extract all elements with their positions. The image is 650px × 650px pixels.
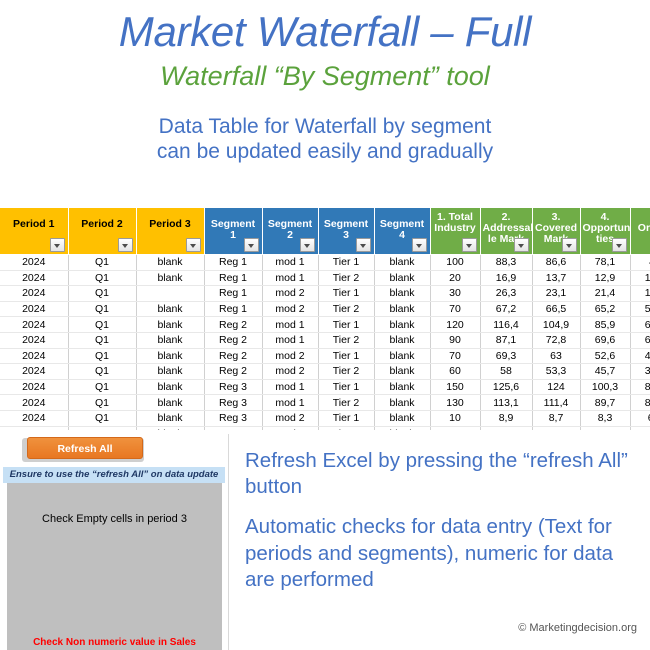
table-cell[interactable]: 88,3: [480, 255, 532, 271]
table-cell[interactable]: Q1: [68, 348, 136, 364]
table-cell[interactable]: blank: [374, 332, 430, 348]
table-cell[interactable]: 100: [430, 255, 480, 271]
column-header-label: Segment 3: [319, 208, 374, 241]
waterfall-data-table: Period 1Period 2Period 3Segment 1Segment…: [0, 208, 650, 430]
table-cell[interactable]: 100,3: [580, 379, 630, 395]
table-cell[interactable]: 2024: [0, 395, 68, 411]
table-cell[interactable]: Reg 1: [204, 301, 262, 317]
table-cell[interactable]: 2024: [0, 364, 68, 380]
table-cell[interactable]: 2024: [0, 301, 68, 317]
page-title: Market Waterfall – Full: [0, 10, 650, 54]
table-cell[interactable]: Q1: [68, 301, 136, 317]
table-cell[interactable]: mod 1: [262, 379, 318, 395]
table-cell[interactable]: 25: [430, 426, 480, 430]
column-header-label: 2. Addressab le Mark: [481, 208, 532, 242]
table-cell[interactable]: Tier 1: [318, 286, 374, 302]
table-row[interactable]: 2024Q1blankReg 3mod 1Tier 2blank130113,1…: [0, 395, 650, 411]
table-body: 2024Q1blankReg 1mod 1Tier 1blank10088,38…: [0, 255, 650, 431]
table-cell[interactable]: 116,4: [480, 317, 532, 333]
column-header-label: Segment 2: [263, 208, 318, 241]
filter-dropdown-icon[interactable]: [514, 238, 529, 252]
table-cell[interactable]: mod 2: [262, 364, 318, 380]
column-header-label: 1. Total Industry: [431, 208, 480, 234]
column-header-segment-3[interactable]: Segment 3: [318, 208, 374, 255]
table-cell[interactable]: blank: [136, 332, 204, 348]
filter-dropdown-icon[interactable]: [356, 238, 371, 252]
table-cell[interactable]: Reg 3: [204, 395, 262, 411]
table-cell[interactable]: 8,7: [532, 410, 580, 426]
table-cell[interactable]: 15,1: [580, 426, 630, 430]
table-cell[interactable]: Q1: [68, 270, 136, 286]
table-cell[interactable]: 89,7: [580, 395, 630, 411]
table-cell[interactable]: 66,5: [532, 301, 580, 317]
column-header-label: Period 2: [69, 208, 136, 230]
table-cell[interactable]: Tier 1: [318, 410, 374, 426]
table-cell[interactable]: Reg 1: [204, 286, 262, 302]
table-cell[interactable]: mod 1: [262, 317, 318, 333]
table-cell[interactable]: 70: [430, 301, 480, 317]
table-cell[interactable]: 26,3: [480, 286, 532, 302]
table-cell[interactable]: blank: [136, 317, 204, 333]
filter-dropdown-icon[interactable]: [462, 238, 477, 252]
table-cell[interactable]: Q1: [68, 364, 136, 380]
table-cell[interactable]: 58: [480, 364, 532, 380]
table-cell[interactable]: Q1: [68, 317, 136, 333]
table-cell[interactable]: 10,5: [630, 270, 650, 286]
table-cell[interactable]: 130: [430, 395, 480, 411]
controls-panel: Refresh All Ensure to use the “refresh A…: [0, 434, 229, 650]
table-cell[interactable]: blank: [136, 379, 204, 395]
table-cell[interactable]: 78,1: [580, 255, 630, 271]
table-cell[interactable]: Reg 1: [204, 270, 262, 286]
table-row[interactable]: 2024Q1blankReg 1mod 2Tier 2blank7067,266…: [0, 301, 650, 317]
table-cell[interactable]: 52,6: [580, 348, 630, 364]
table-cell[interactable]: Reg 2: [204, 332, 262, 348]
column-header-period-2[interactable]: Period 2: [68, 208, 136, 255]
table-cell[interactable]: 2024: [0, 255, 68, 271]
table-cell[interactable]: Tier 2: [318, 301, 374, 317]
table-cell[interactable]: 10: [430, 410, 480, 426]
table-cell[interactable]: blank: [374, 301, 430, 317]
column-header-label: Segment 1: [205, 208, 262, 241]
table-cell[interactable]: Tier 2: [318, 364, 374, 380]
table-cell[interactable]: blank: [136, 364, 204, 380]
table-row[interactable]: 2024Q1blankReg 3mod 2Tier 2blank2520,917…: [0, 426, 650, 430]
table-cell[interactable]: 19,4: [630, 286, 650, 302]
table-cell[interactable]: Tier 2: [318, 426, 374, 430]
table-row[interactable]: 2024Q1Reg 1mod 2Tier 1blank3026,323,121,…: [0, 286, 650, 302]
table-cell[interactable]: Tier 1: [318, 348, 374, 364]
table-cell[interactable]: blank: [374, 270, 430, 286]
table-cell[interactable]: 36,9: [630, 364, 650, 380]
column-header-4-opportuni-ties[interactable]: 4. Opportuni ties: [580, 208, 630, 255]
table-cell[interactable]: Q1: [68, 395, 136, 411]
table-cell[interactable]: blank: [136, 301, 204, 317]
lead-text: Data Table for Waterfall by segment can …: [0, 114, 650, 165]
table-cell[interactable]: blank: [374, 379, 430, 395]
table-cell[interactable]: [136, 286, 204, 302]
table-cell[interactable]: 2024: [0, 270, 68, 286]
table-cell[interactable]: mod 1: [262, 395, 318, 411]
table-cell[interactable]: 124: [532, 379, 580, 395]
lead-line-1: Data Table for Waterfall by segment: [0, 114, 650, 140]
explanation-paragraph-1: Refresh Excel by pressing the “refresh A…: [245, 448, 645, 500]
table-cell[interactable]: 14,9: [630, 426, 650, 430]
table-cell[interactable]: 120: [430, 317, 480, 333]
table-row[interactable]: 2024Q1blankReg 2mod 1Tier 2blank9087,172…: [0, 332, 650, 348]
table-cell[interactable]: 125,6: [480, 379, 532, 395]
table-cell[interactable]: mod 2: [262, 410, 318, 426]
validation-box: Check Empty cells in period 3 Check Non …: [7, 483, 222, 650]
table-cell[interactable]: Q1: [68, 410, 136, 426]
table-cell[interactable]: 2024: [0, 348, 68, 364]
table-cell[interactable]: mod 1: [262, 270, 318, 286]
table-cell[interactable]: 40: [630, 255, 650, 271]
table-cell[interactable]: blank: [374, 255, 430, 271]
table-cell[interactable]: mod 2: [262, 348, 318, 364]
table-cell[interactable]: 21,4: [580, 286, 630, 302]
table-cell[interactable]: 16,9: [480, 270, 532, 286]
column-header-segment-4[interactable]: Segment 4: [374, 208, 430, 255]
table-cell[interactable]: 67,2: [480, 301, 532, 317]
table-cell[interactable]: 60: [430, 364, 480, 380]
filter-dropdown-icon[interactable]: [412, 238, 427, 252]
data-table-region[interactable]: Period 1Period 2Period 3Segment 1Segment…: [0, 208, 650, 430]
table-cell[interactable]: Reg 3: [204, 426, 262, 430]
table-cell[interactable]: 42,3: [630, 348, 650, 364]
table-cell[interactable]: blank: [136, 255, 204, 271]
table-cell[interactable]: Reg 2: [204, 348, 262, 364]
table-cell[interactable]: 113,1: [480, 395, 532, 411]
table-cell[interactable]: 69,7: [630, 317, 650, 333]
column-header-label: 5. Orders: [631, 208, 650, 234]
table-cell[interactable]: Tier 1: [318, 317, 374, 333]
table-cell[interactable]: 70: [430, 348, 480, 364]
table-cell[interactable]: 8,3: [580, 410, 630, 426]
table-cell[interactable]: 2024: [0, 332, 68, 348]
table-cell[interactable]: blank: [136, 270, 204, 286]
table-cell[interactable]: 2024: [0, 317, 68, 333]
column-header-period-1[interactable]: Period 1: [0, 208, 68, 255]
table-cell[interactable]: Q1: [68, 379, 136, 395]
table-cell[interactable]: blank: [136, 348, 204, 364]
table-cell[interactable]: blank: [374, 317, 430, 333]
column-header-segment-2[interactable]: Segment 2: [262, 208, 318, 255]
filter-dropdown-icon[interactable]: [50, 238, 65, 252]
table-cell[interactable]: blank: [374, 364, 430, 380]
table-cell[interactable]: 59,5: [630, 301, 650, 317]
table-cell[interactable]: Q1: [68, 332, 136, 348]
table-cell[interactable]: 86,6: [532, 255, 580, 271]
table-cell[interactable]: Q1: [68, 255, 136, 271]
check-non-numeric-message: Check Non numeric value in Sales: [7, 637, 222, 648]
page-subtitle: Waterfall “By Segment” tool: [0, 62, 650, 92]
table-cell[interactable]: 104,9: [532, 317, 580, 333]
column-header-segment-1[interactable]: Segment 1: [204, 208, 262, 255]
table-row[interactable]: 2024Q1blankReg 3mod 2Tier 1blank108,98,7…: [0, 410, 650, 426]
table-cell[interactable]: Tier 1: [318, 379, 374, 395]
table-header: Period 1Period 2Period 3Segment 1Segment…: [0, 208, 650, 255]
table-cell[interactable]: mod 1: [262, 255, 318, 271]
table-cell[interactable]: 2024: [0, 426, 68, 430]
table-row[interactable]: 2024Q1blankReg 2mod 1Tier 1blank120116,4…: [0, 317, 650, 333]
table-row[interactable]: 2024Q1blankReg 2mod 2Tier 1blank7069,363…: [0, 348, 650, 364]
table-cell[interactable]: blank: [374, 395, 430, 411]
table-cell[interactable]: 111,4: [532, 395, 580, 411]
table-cell[interactable]: 90: [430, 332, 480, 348]
table-cell[interactable]: 20: [430, 270, 480, 286]
table-row[interactable]: 2024Q1blankReg 1mod 1Tier 2blank2016,913…: [0, 270, 650, 286]
explanation-paragraph-2: Automatic checks for data entry (Text fo…: [245, 514, 645, 593]
column-header-label: Period 3: [137, 208, 204, 230]
table-cell[interactable]: 12,9: [580, 270, 630, 286]
refresh-note: Ensure to use the “refresh All” on data …: [3, 467, 225, 483]
column-header-label: Period 1: [0, 208, 68, 230]
table-cell[interactable]: 6,9: [630, 410, 650, 426]
check-empty-cells-message: Check Empty cells in period 3: [7, 513, 222, 525]
table-cell[interactable]: Reg 3: [204, 379, 262, 395]
table-cell[interactable]: Q1: [68, 426, 136, 430]
table-cell[interactable]: 30: [430, 286, 480, 302]
explanation-text: Refresh Excel by pressing the “refresh A…: [245, 448, 645, 607]
refresh-all-button[interactable]: Refresh All: [27, 437, 143, 459]
table-cell[interactable]: blank: [374, 426, 430, 430]
column-header-label: 4. Opportuni ties: [581, 208, 630, 242]
table-cell[interactable]: blank: [136, 426, 204, 430]
column-header-3-covered-mark[interactable]: 3. Covered Mark: [532, 208, 580, 255]
table-cell[interactable]: mod 2: [262, 301, 318, 317]
filter-dropdown-icon[interactable]: [612, 238, 627, 252]
table-cell[interactable]: 85,9: [580, 317, 630, 333]
copyright-credit: © Marketingdecision.org: [245, 622, 645, 634]
table-cell[interactable]: 17: [532, 426, 580, 430]
table-cell[interactable]: 69,6: [580, 332, 630, 348]
table-cell[interactable]: 53,3: [532, 364, 580, 380]
table-cell[interactable]: mod 2: [262, 286, 318, 302]
column-header-1-total-industry[interactable]: 1. Total Industry: [430, 208, 480, 255]
table-cell[interactable]: Reg 1: [204, 255, 262, 271]
table-cell[interactable]: Tier 1: [318, 255, 374, 271]
column-header-label: 3. Covered Mark: [533, 208, 580, 242]
table-cell[interactable]: 63: [532, 348, 580, 364]
table-cell[interactable]: mod 1: [262, 332, 318, 348]
table-cell[interactable]: 45,7: [580, 364, 630, 380]
table-cell[interactable]: 20,9: [480, 426, 532, 430]
table-cell[interactable]: blank: [136, 395, 204, 411]
table-row[interactable]: 2024Q1blankReg 1mod 1Tier 1blank10088,38…: [0, 255, 650, 271]
table-cell[interactable]: 13,7: [532, 270, 580, 286]
table-cell[interactable]: blank: [374, 286, 430, 302]
filter-dropdown-icon[interactable]: [186, 238, 201, 252]
table-cell[interactable]: 65,2: [580, 301, 630, 317]
table-cell[interactable]: Tier 2: [318, 395, 374, 411]
table-cell[interactable]: blank: [374, 410, 430, 426]
table-cell[interactable]: Q1: [68, 286, 136, 302]
table-cell[interactable]: 23,1: [532, 286, 580, 302]
table-row[interactable]: 2024Q1blankReg 2mod 2Tier 2blank605853,3…: [0, 364, 650, 380]
table-cell[interactable]: Tier 2: [318, 332, 374, 348]
table-cell[interactable]: 2024: [0, 286, 68, 302]
table-cell[interactable]: 2024: [0, 379, 68, 395]
filter-dropdown-icon[interactable]: [244, 238, 259, 252]
table-cell[interactable]: Reg 2: [204, 364, 262, 380]
table-cell[interactable]: 80,8: [630, 379, 650, 395]
table-cell[interactable]: 66,9: [630, 332, 650, 348]
column-header-2-addressab-le-mark[interactable]: 2. Addressab le Mark: [480, 208, 532, 255]
table-cell[interactable]: blank: [374, 348, 430, 364]
table-cell[interactable]: Reg 2: [204, 317, 262, 333]
column-header-label: Segment 4: [375, 208, 430, 241]
title-block: Market Waterfall – Full Waterfall “By Se…: [0, 0, 650, 165]
column-header-5-orders[interactable]: 5. Orders: [630, 208, 650, 255]
table-cell[interactable]: Reg 3: [204, 410, 262, 426]
filter-dropdown-icon[interactable]: [300, 238, 315, 252]
lead-line-2: can be updated easily and gradually: [0, 139, 650, 165]
column-header-period-3[interactable]: Period 3: [136, 208, 204, 255]
filter-dropdown-icon[interactable]: [118, 238, 133, 252]
table-cell[interactable]: 2024: [0, 410, 68, 426]
filter-dropdown-icon[interactable]: [562, 238, 577, 252]
table-cell[interactable]: mod 2: [262, 426, 318, 430]
table-cell[interactable]: 81,9: [630, 395, 650, 411]
table-row[interactable]: 2024Q1blankReg 3mod 1Tier 1blank150125,6…: [0, 379, 650, 395]
table-cell[interactable]: 69,3: [480, 348, 532, 364]
table-cell[interactable]: 8,9: [480, 410, 532, 426]
table-cell[interactable]: blank: [136, 410, 204, 426]
table-cell[interactable]: Tier 2: [318, 270, 374, 286]
table-cell[interactable]: 150: [430, 379, 480, 395]
table-cell[interactable]: 87,1: [480, 332, 532, 348]
table-cell[interactable]: 72,8: [532, 332, 580, 348]
